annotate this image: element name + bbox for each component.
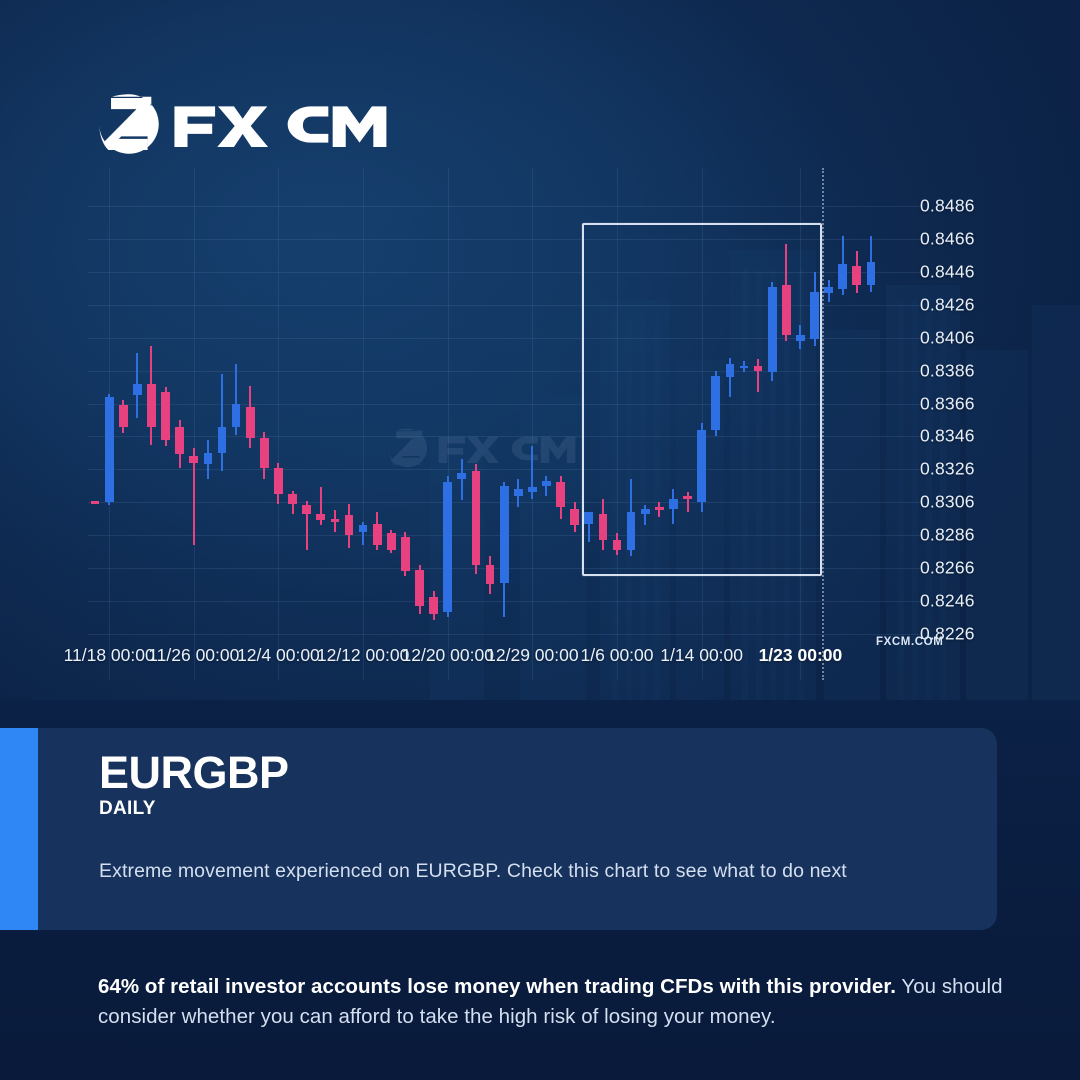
x-axis-tick-label: 1/23 00:00: [759, 645, 843, 666]
y-axis-tick-label: 0.8406: [920, 327, 975, 348]
y-axis-tick-label: 0.8426: [920, 295, 975, 316]
candle-body: [528, 487, 537, 492]
candle-body: [824, 287, 833, 294]
y-axis-tick-label: 0.8366: [920, 393, 975, 414]
x-axis-tick-label: 12/20 00:00: [401, 645, 493, 666]
instrument-timeframe: DAILY: [99, 798, 957, 820]
candle-body: [457, 473, 466, 480]
candle-body: [415, 570, 424, 606]
y-axis-tick-label: 0.8246: [920, 590, 975, 611]
price-chart[interactable]: [0, 170, 1080, 690]
fxcm-logo-wordmark: [173, 102, 391, 147]
instrument-symbol: EURGBP: [99, 750, 957, 796]
x-axis-tick-label: 12/12 00:00: [317, 645, 409, 666]
candle-body: [387, 533, 396, 549]
y-axis-tick-label: 0.8486: [920, 196, 975, 217]
candle-wick: [461, 459, 463, 500]
risk-disclaimer: 64% of retail investor accounts lose mon…: [98, 972, 1028, 1031]
candle-body: [274, 468, 283, 494]
x-axis-tick-label: 1/6 00:00: [581, 645, 654, 666]
candle-body: [838, 264, 847, 289]
candle-body: [472, 471, 481, 565]
y-axis-tick-label: 0.8466: [920, 229, 975, 250]
candle-body: [852, 266, 861, 286]
candle-body: [331, 519, 340, 522]
candle-body: [316, 514, 325, 521]
x-axis-tick-label: 12/29 00:00: [486, 645, 578, 666]
candle-body: [345, 515, 354, 535]
info-card-body: EURGBP DAILY Extreme movement experience…: [38, 728, 997, 930]
x-axis-tick-label: 1/14 00:00: [660, 645, 743, 666]
x-axis-date-labels: 11/18 00:0011/26 00:0012/4 00:0012/12 00…: [0, 645, 1080, 679]
candle-body: [175, 427, 184, 455]
candle-body: [570, 509, 579, 525]
y-axis-tick-label: 0.8446: [920, 262, 975, 283]
candle-body: [218, 427, 227, 453]
candle-body: [105, 397, 114, 502]
y-axis-tick-label: 0.8386: [920, 360, 975, 381]
candle-body: [147, 384, 156, 427]
candle-body: [443, 482, 452, 612]
cursor-vertical-line: [822, 168, 824, 680]
instrument-info-card: EURGBP DAILY Extreme movement experience…: [0, 728, 997, 930]
y-axis-tick-label: 0.8266: [920, 557, 975, 578]
candle-body: [429, 597, 438, 613]
y-axis-tick-label: 0.8286: [920, 525, 975, 546]
candle-body: [91, 501, 100, 504]
chart-description: Extreme movement experienced on EURGBP. …: [99, 858, 957, 884]
candle-body: [189, 456, 198, 463]
candle-body: [204, 453, 213, 465]
y-axis-tick-label: 0.8346: [920, 426, 975, 447]
y-axis-tick-label: 0.8306: [920, 492, 975, 513]
fxcm-url-label: FXCM.COM: [876, 636, 943, 648]
chart-plot-area[interactable]: [88, 190, 878, 650]
candle-body: [288, 494, 297, 504]
candle-body: [302, 505, 311, 513]
candle-body: [867, 262, 876, 285]
accent-bar: [0, 728, 38, 930]
candle-body: [246, 407, 255, 438]
fxcm-logo: [98, 93, 391, 155]
y-axis-price-labels: 0.84860.84660.84460.84260.84060.83860.83…: [920, 178, 1070, 658]
candle-body: [486, 565, 495, 585]
candle-body: [514, 489, 523, 496]
candle-body: [119, 405, 128, 426]
x-axis-tick-label: 11/18 00:00: [64, 645, 155, 666]
candle-body: [260, 438, 269, 468]
candle-body: [232, 404, 241, 427]
candle-body: [359, 525, 368, 532]
candle-body: [401, 537, 410, 572]
candle-body: [556, 482, 565, 507]
candle-body: [542, 481, 551, 486]
candle-body: [161, 392, 170, 440]
highlight-rectangle: [582, 223, 822, 576]
candle-wick: [221, 374, 223, 471]
candle-body: [500, 486, 509, 583]
disclaimer-bold-text: 64% of retail investor accounts lose mon…: [98, 975, 896, 998]
x-axis-tick-label: 11/26 00:00: [148, 645, 239, 666]
candle-body: [373, 524, 382, 545]
x-axis-tick-label: 12/4 00:00: [237, 645, 320, 666]
y-axis-tick-label: 0.8326: [920, 459, 975, 480]
fxcm-logo-mark-icon: [98, 93, 160, 155]
candle-body: [133, 384, 142, 396]
